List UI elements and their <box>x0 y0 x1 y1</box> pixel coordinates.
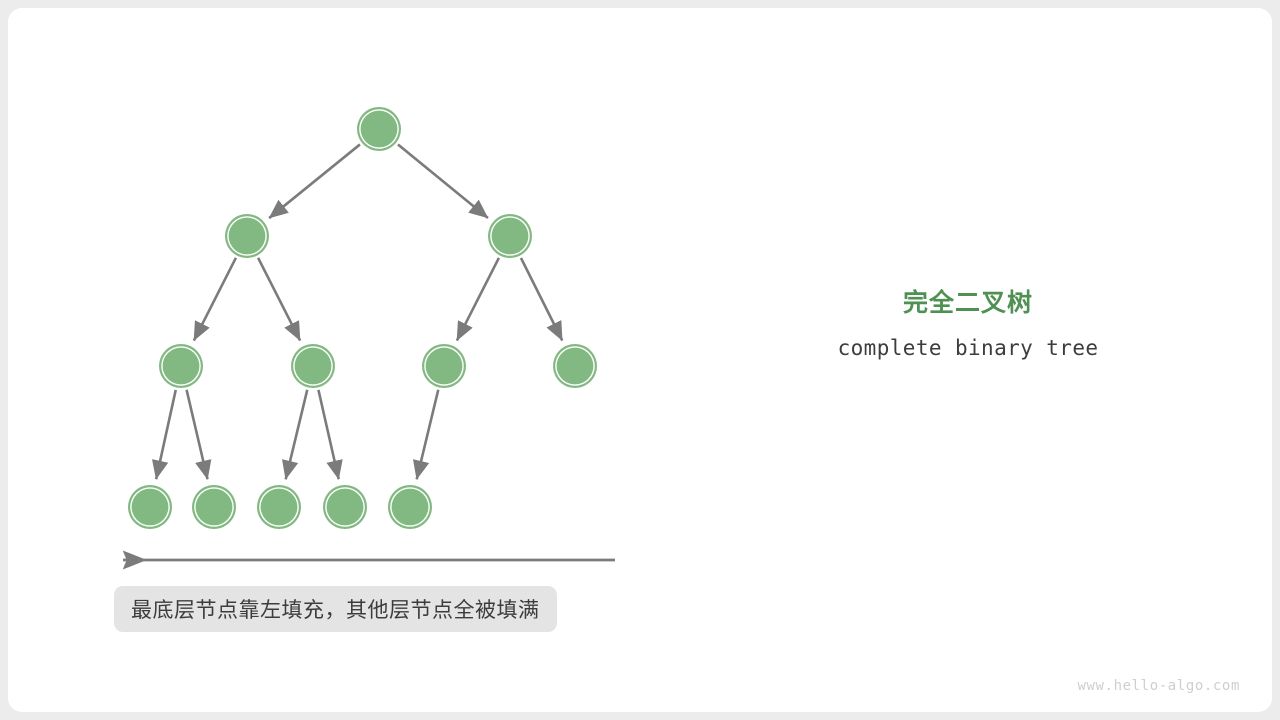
tree-node-body <box>361 111 398 148</box>
tree-node-body <box>392 489 429 526</box>
tree-node-body <box>229 218 266 255</box>
tree-node <box>192 485 236 529</box>
page-title: 完全二叉树 <box>780 286 1156 320</box>
tree-edge <box>457 258 499 341</box>
tree-edge <box>521 258 562 341</box>
tree-node-body <box>132 489 169 526</box>
tree-node <box>159 344 203 388</box>
tree-node <box>257 485 301 529</box>
tree-edge <box>318 390 338 479</box>
tree-node <box>323 485 367 529</box>
tree-node <box>128 485 172 529</box>
tree-node-body <box>557 348 594 385</box>
tree-node <box>388 485 432 529</box>
tree-edge <box>398 144 488 217</box>
tree-node-body <box>327 489 364 526</box>
tree-edge <box>187 390 208 479</box>
tree-node-body <box>163 348 200 385</box>
tree-node-layer <box>128 107 597 529</box>
tree-edge <box>194 258 236 341</box>
tree-node-body <box>196 489 233 526</box>
site-watermark: www.hello-algo.com <box>1077 678 1240 694</box>
tree-node-body <box>261 489 298 526</box>
tree-node <box>422 344 466 388</box>
tree-edge-layer <box>156 144 562 479</box>
tree-node <box>225 214 269 258</box>
tree-edge <box>156 390 176 479</box>
tree-edge <box>258 258 300 341</box>
tree-node-body <box>426 348 463 385</box>
tree-node <box>357 107 401 151</box>
annotation-text: 最底层节点靠左填充，其他层节点全被填满 <box>131 594 540 624</box>
tree-node <box>553 344 597 388</box>
legend-block: 完全二叉树 complete binary tree <box>780 286 1156 362</box>
annotation-badge: 最底层节点靠左填充，其他层节点全被填满 <box>114 586 557 632</box>
page-subtitle: complete binary tree <box>780 334 1156 362</box>
tree-node-body <box>295 348 332 385</box>
tree-node <box>291 344 335 388</box>
diagram-canvas: 完全二叉树 complete binary tree 最底层节点靠左填充，其他层… <box>0 0 1280 720</box>
tree-edge <box>417 390 439 479</box>
tree-node <box>488 214 532 258</box>
tree-node-body <box>492 218 529 255</box>
tree-edge <box>269 144 360 218</box>
tree-edge <box>286 390 308 479</box>
